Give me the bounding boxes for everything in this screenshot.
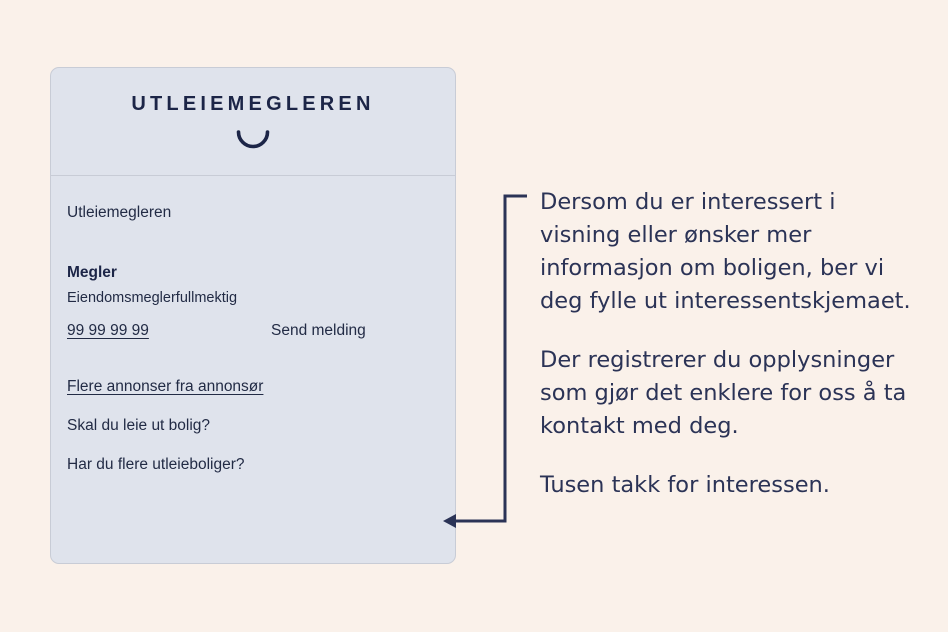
smile-arc-icon [51, 130, 455, 152]
rent-out-property-link[interactable]: Skal du leie ut bolig? [67, 417, 210, 435]
brand-wordmark: UTLEIEMEGLEREN [51, 93, 455, 116]
agent-role: Eiendomsmeglerfullmektig [67, 290, 237, 306]
card-header: UTLEIEMEGLEREN [51, 68, 455, 176]
annotation-paragraph-3: Tusen takk for interessen. [540, 469, 920, 502]
agent-title: Megler [67, 264, 117, 282]
phone-link[interactable]: 99 99 99 99 [67, 322, 149, 339]
multiple-rentals-link[interactable]: Har du flere utleieboliger? [67, 456, 245, 474]
annotation-paragraph-1: Dersom du er interessert i visning eller… [540, 186, 920, 318]
company-name: Utleiemegleren [67, 204, 171, 222]
contact-row: 99 99 99 99 Send melding [67, 322, 437, 340]
send-message-link[interactable]: Send melding [271, 322, 366, 340]
card-body: Utleiemegleren Megler Eiendomsmeglerfull… [51, 176, 455, 564]
more-ads-from-advertiser-link[interactable]: Flere annonser fra annonsør [67, 378, 263, 396]
agent-contact-card: UTLEIEMEGLEREN Utleiemegleren Megler Eie… [50, 67, 456, 564]
annotation-paragraph-2: Der registrerer du opplysninger som gjør… [540, 344, 920, 443]
annotation-text: Dersom du er interessert i visning eller… [540, 186, 920, 502]
